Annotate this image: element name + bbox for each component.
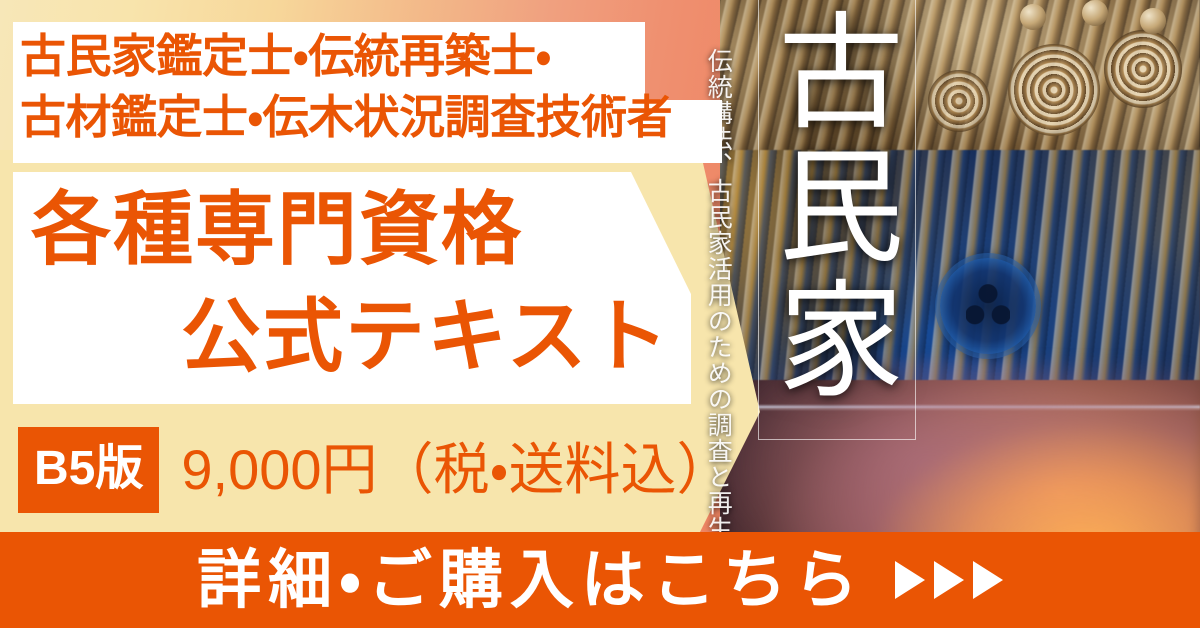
carved-knob — [1082, 0, 1108, 26]
promo-banner: 伝統構法、古民家活用のための調査と再生の 古民家 古民家鑑定士・伝統再築士・ 古… — [0, 0, 1200, 628]
price-row: B5版 9,000円（税・送料込） — [18, 427, 733, 513]
main-title-line-1: 各種専門資格 — [13, 176, 673, 283]
cover-title: 古民家 — [770, 6, 902, 408]
carved-scroll-curl — [1008, 44, 1100, 136]
price-amount: 9,000円（税・送料込） — [181, 442, 732, 498]
family-crest-medallion — [940, 258, 1036, 354]
cta-arrow-group — [895, 561, 1003, 599]
headline-line-2: 古材鑑定士・伝木状況調査技術者 — [20, 87, 720, 148]
cta-button[interactable]: 詳細・ご購入はこちら — [0, 532, 1200, 628]
carved-scroll-curl — [1104, 30, 1182, 108]
headline: 古民家鑑定士・伝統再築士・ 古材鑑定士・伝木状況調査技術者 — [20, 26, 720, 148]
main-title: 各種専門資格 公式テキスト — [13, 176, 673, 390]
carved-knob — [1020, 4, 1046, 30]
cta-label: 詳細・ご購入はこちら — [197, 548, 865, 612]
headline-line-1: 古民家鑑定士・伝統再築士・ — [20, 26, 720, 87]
triangle-right-icon — [934, 561, 964, 599]
carved-knob — [1140, 8, 1166, 34]
format-badge: B5版 — [18, 427, 159, 513]
triangle-right-icon — [973, 561, 1003, 599]
main-title-line-2: 公式テキスト — [13, 283, 673, 390]
carved-scroll-curl — [928, 70, 990, 132]
triangle-right-icon — [895, 561, 925, 599]
